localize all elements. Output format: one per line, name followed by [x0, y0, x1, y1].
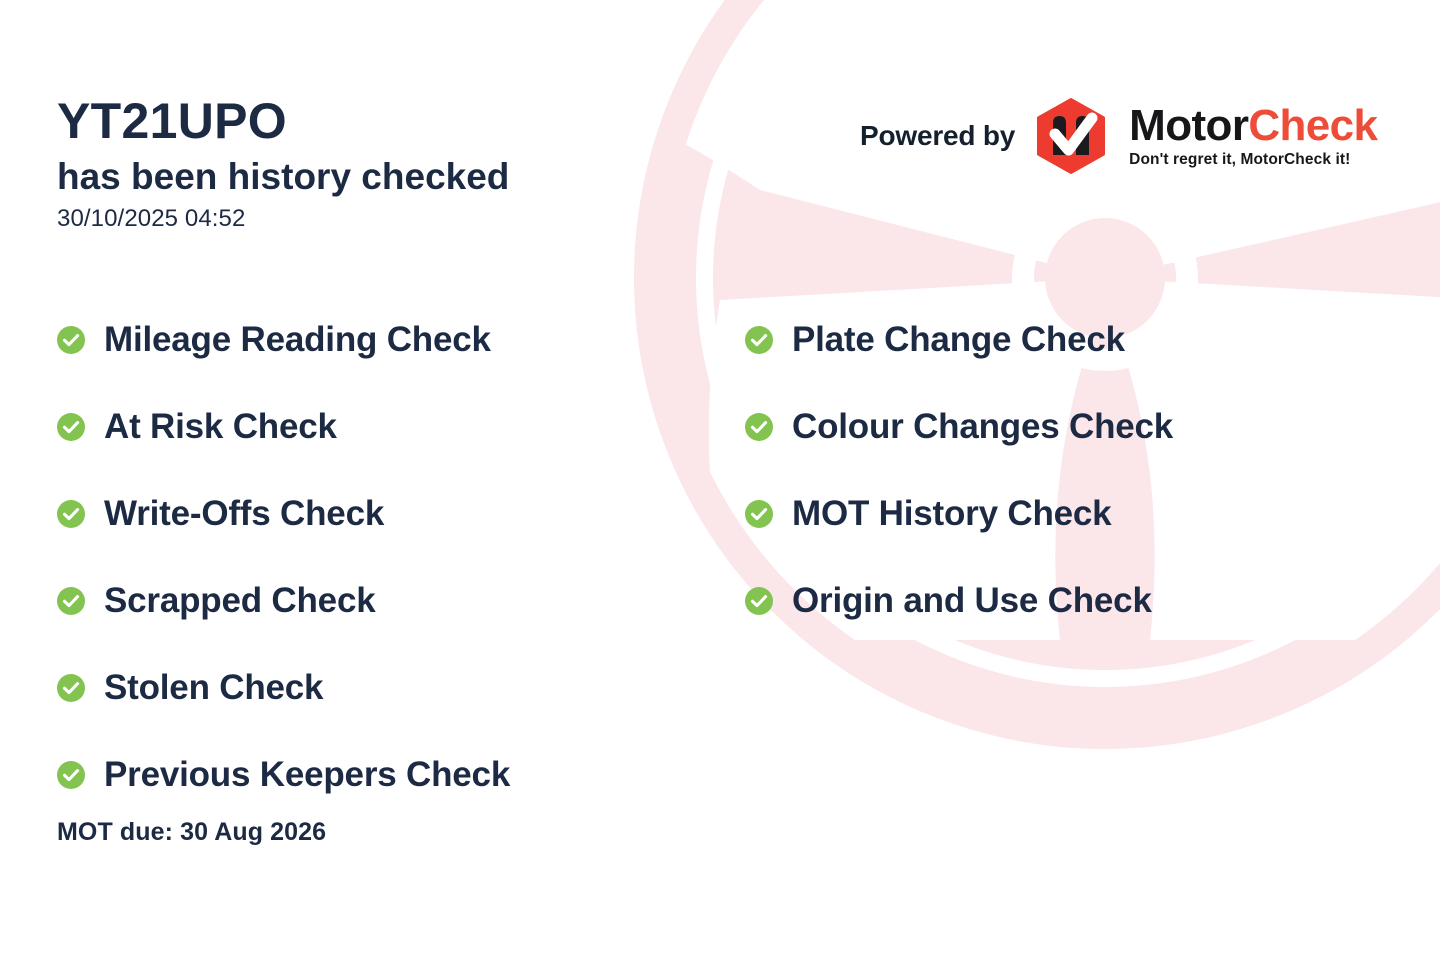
powered-by-brand: Powered by MotorCheck Don't regret it, M…	[860, 98, 1377, 174]
check-timestamp: 30/10/2025 04:52	[57, 205, 717, 233]
check-label: MOT History Check	[792, 496, 1111, 531]
brand-name: MotorCheck	[1129, 104, 1377, 148]
check-label: Colour Changes Check	[792, 409, 1173, 444]
motorcheck-hexagon-icon	[1035, 98, 1107, 174]
header-block: YT21UPO has been history checked 30/10/2…	[57, 96, 717, 233]
checks-right-column: Plate Change Check Colour Changes Check …	[745, 296, 1173, 644]
check-label: Previous Keepers Check	[104, 757, 510, 792]
check-circle-icon	[745, 500, 773, 528]
check-label: Scrapped Check	[104, 583, 375, 618]
brand-name-check: Check	[1248, 101, 1377, 150]
check-circle-icon	[57, 500, 85, 528]
check-label: Mileage Reading Check	[104, 322, 491, 357]
check-circle-icon	[745, 326, 773, 354]
check-circle-icon	[745, 413, 773, 441]
check-label: Plate Change Check	[792, 322, 1125, 357]
mot-due-text: MOT due: 30 Aug 2026	[57, 818, 326, 847]
list-item: Mileage Reading Check	[57, 296, 510, 383]
check-circle-icon	[57, 413, 85, 441]
brand-tagline: Don't regret it, MotorCheck it!	[1129, 151, 1377, 169]
list-item: Stolen Check	[57, 644, 510, 731]
list-item: Colour Changes Check	[745, 383, 1173, 470]
check-label: At Risk Check	[104, 409, 337, 444]
brand-wordmark-block: MotorCheck Don't regret it, MotorCheck i…	[1129, 104, 1377, 169]
check-circle-icon	[745, 587, 773, 615]
page-title-registration-plate: YT21UPO	[57, 96, 717, 146]
page-subtitle: has been history checked	[57, 156, 717, 197]
list-item: At Risk Check	[57, 383, 510, 470]
check-label: Write-Offs Check	[104, 496, 384, 531]
list-item: Plate Change Check	[745, 296, 1173, 383]
list-item: Scrapped Check	[57, 557, 510, 644]
check-circle-icon	[57, 587, 85, 615]
list-item: Write-Offs Check	[57, 470, 510, 557]
check-circle-icon	[57, 326, 85, 354]
powered-by-label: Powered by	[860, 120, 1015, 152]
list-item: Origin and Use Check	[745, 557, 1173, 644]
brand-name-motor: Motor	[1129, 101, 1248, 150]
check-circle-icon	[57, 674, 85, 702]
list-item: Previous Keepers Check	[57, 731, 510, 818]
check-label: Origin and Use Check	[792, 583, 1152, 618]
check-label: Stolen Check	[104, 670, 323, 705]
checks-left-column: Mileage Reading Check At Risk Check Writ…	[57, 296, 510, 818]
vehicle-history-check-card: YT21UPO has been history checked 30/10/2…	[0, 0, 1440, 960]
list-item: MOT History Check	[745, 470, 1173, 557]
check-circle-icon	[57, 761, 85, 789]
